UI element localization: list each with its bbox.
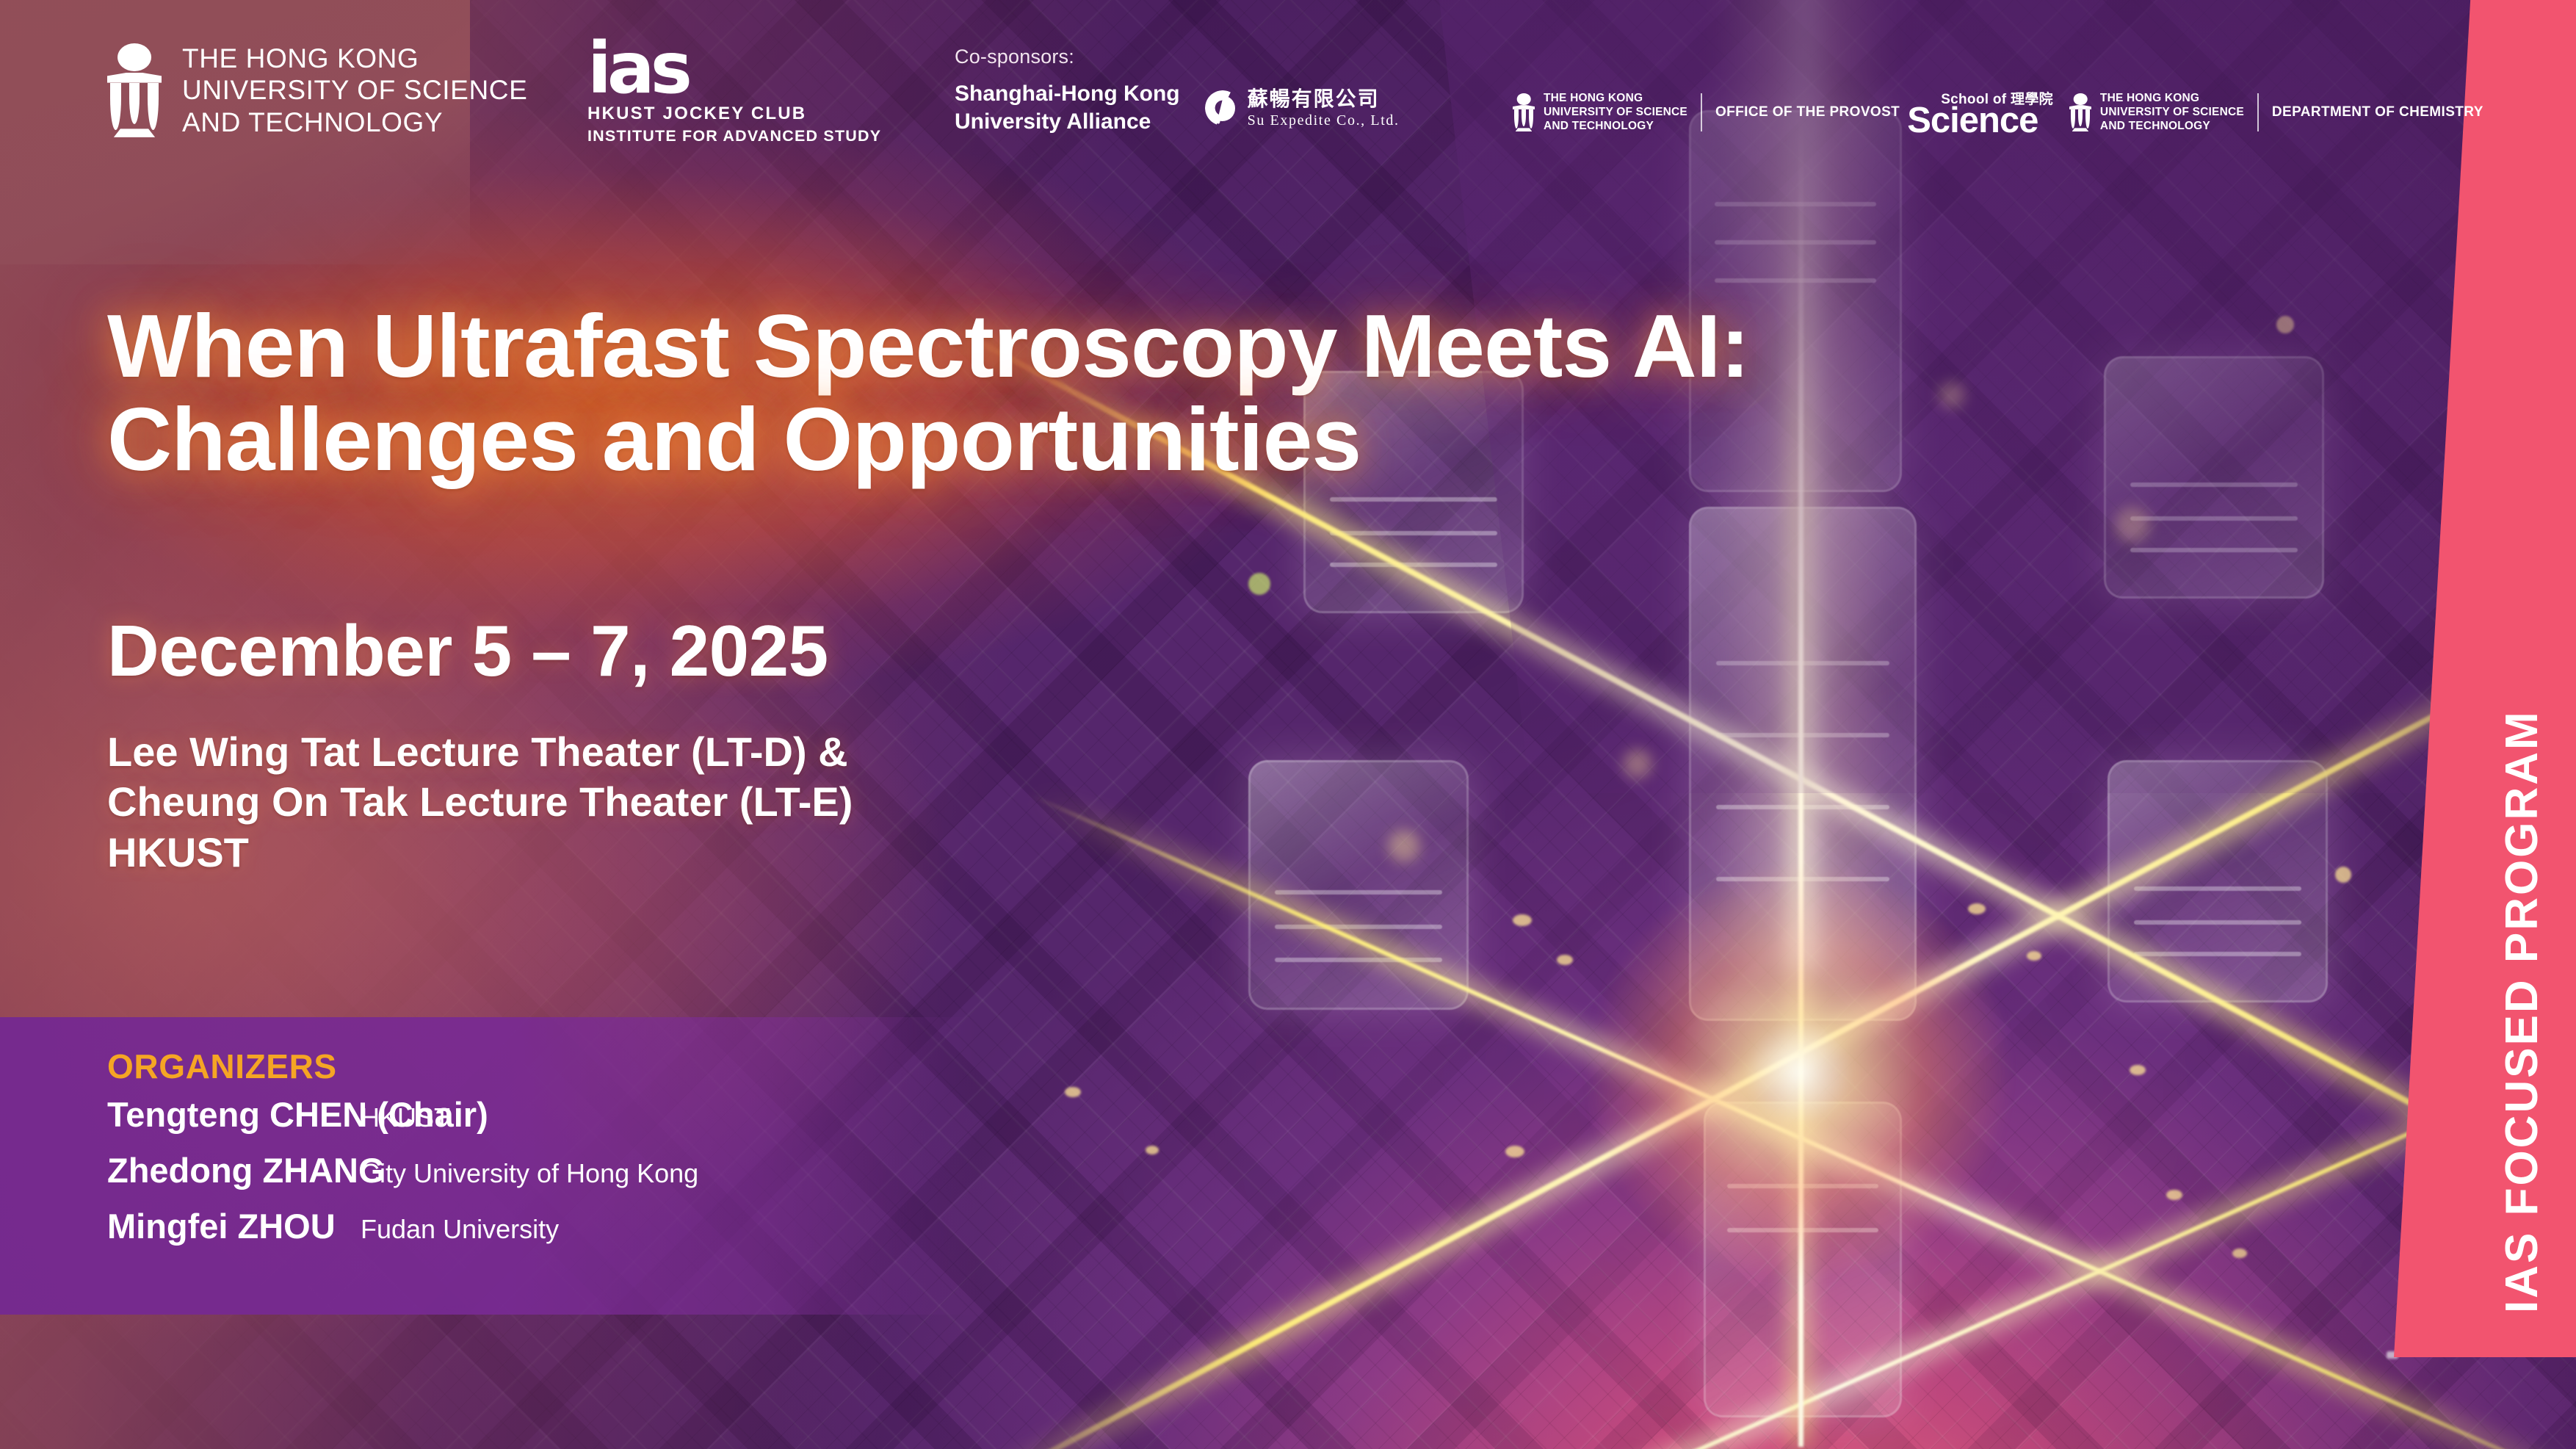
ias-glyph-icon: ias	[587, 38, 881, 99]
su-expedite-english: Su Expedite Co., Ltd.	[1248, 112, 1400, 129]
hkust-pictogram-icon	[107, 43, 162, 137]
hkust-line-2: UNIVERSITY OF SCIENCE	[1544, 106, 1687, 120]
cosponsors-label: Co-sponsors:	[955, 46, 1400, 68]
hkust-line-2: UNIVERSITY OF SCIENCE	[182, 74, 527, 106]
organizer-name: Tengteng CHEN (Chair)	[107, 1094, 361, 1135]
hkust-wordmark: THE HONG KONG UNIVERSITY OF SCIENCE AND …	[1544, 92, 1687, 134]
alliance-logo: Shanghai-Hong Kong University Alliance	[955, 80, 1180, 137]
venue-line-2: Cheung On Tak Lecture Theater (LT-E)	[107, 777, 853, 827]
hkust-line-3: AND TECHNOLOGY	[2100, 120, 2244, 134]
logo-divider	[2257, 93, 2259, 131]
organizers-list: Tengteng CHEN (Chair) HKUST Zhedong ZHAN…	[107, 1094, 698, 1262]
event-date: December 5 – 7, 2025	[107, 610, 828, 693]
logo-divider	[1701, 93, 1702, 131]
organizer-affiliation: City University of Hong Kong	[361, 1158, 698, 1189]
organizer-row: Tengteng CHEN (Chair) HKUST	[107, 1094, 698, 1150]
ias-line-1: HKUST JOCKEY CLUB	[587, 104, 881, 124]
venue-line-3: HKUST	[107, 828, 853, 878]
hkust-line-3: AND TECHNOLOGY	[1544, 120, 1687, 134]
department-of-chemistry-label: DEPARTMENT OF CHEMISTRY	[2272, 104, 2483, 120]
organizer-affiliation: Fudan University	[361, 1214, 559, 1245]
supporting-unit-logos: THE HONG KONG UNIVERSITY OF SCIENCE AND …	[1513, 88, 2483, 137]
banner-label: IAS FOCUSED PROGRAM	[2496, 0, 2548, 1357]
alliance-line-2: University Alliance	[955, 108, 1180, 136]
header-logos: THE HONG KONG UNIVERSITY OF SCIENCE AND …	[0, 0, 2576, 191]
hkust-line-1: THE HONG KONG	[2100, 92, 2244, 106]
organizer-row: Zhedong ZHANG City University of Hong Ko…	[107, 1150, 698, 1206]
hkust-wordmark: THE HONG KONG UNIVERSITY OF SCIENCE AND …	[2100, 92, 2244, 134]
event-title-line-2: Challenges and Opportunities	[107, 393, 2369, 486]
organizer-name: Mingfei ZHOU	[107, 1206, 361, 1246]
hkust-line-1: THE HONG KONG	[1544, 92, 1687, 106]
alliance-line-1: Shanghai-Hong Kong	[955, 80, 1180, 108]
hkust-logo: THE HONG KONG UNIVERSITY OF SCIENCE AND …	[107, 43, 527, 138]
school-of-science-logo: School of 理學院 Science	[1907, 88, 2053, 137]
school-of-science-wordmark: Science	[1907, 105, 2053, 137]
hkust-line-2: UNIVERSITY OF SCIENCE	[2100, 106, 2244, 120]
hkust-wordmark: THE HONG KONG UNIVERSITY OF SCIENCE AND …	[182, 43, 527, 138]
poster-canvas: IAS FOCUSED PROGRAM THE HONG KONG UNIVER…	[0, 0, 2576, 1449]
event-venue: Lee Wing Tat Lecture Theater (LT-D) & Ch…	[107, 727, 853, 878]
organizer-row: Mingfei ZHOU Fudan University	[107, 1206, 698, 1262]
cosponsors-block: Co-sponsors: Shanghai-Hong Kong Universi…	[955, 46, 1400, 137]
su-expedite-chinese: 蘇暢有限公司	[1248, 88, 1400, 109]
hkust-pictogram-icon	[1513, 93, 1535, 131]
hkust-pictogram-icon	[2069, 93, 2091, 131]
ias-line-2: INSTITUTE FOR ADVANCED STUDY	[587, 127, 881, 145]
hkust-line-3: AND TECHNOLOGY	[182, 106, 527, 138]
office-of-the-provost-label: OFFICE OF THE PROVOST	[1715, 104, 1900, 120]
organizers-heading: ORGANIZERS	[107, 1047, 337, 1086]
ias-logo: ias HKUST JOCKEY CLUB INSTITUTE FOR ADVA…	[587, 38, 881, 145]
organizer-affiliation: HKUST	[361, 1102, 450, 1133]
hkust-provost-logo: THE HONG KONG UNIVERSITY OF SCIENCE AND …	[1513, 92, 1687, 134]
venue-line-1: Lee Wing Tat Lecture Theater (LT-D) &	[107, 727, 853, 777]
su-s-mark-icon	[1205, 90, 1240, 126]
organizer-name: Zhedong ZHANG	[107, 1150, 361, 1190]
hkust-line-1: THE HONG KONG	[182, 43, 527, 74]
event-title-line-1: When Ultrafast Spectroscopy Meets AI:	[107, 300, 2369, 393]
hkust-chemistry-logo: THE HONG KONG UNIVERSITY OF SCIENCE AND …	[2069, 92, 2244, 134]
su-expedite-logo: 蘇暢有限公司 Su Expedite Co., Ltd.	[1205, 88, 1400, 128]
event-title: When Ultrafast Spectroscopy Meets AI: Ch…	[107, 300, 2369, 486]
